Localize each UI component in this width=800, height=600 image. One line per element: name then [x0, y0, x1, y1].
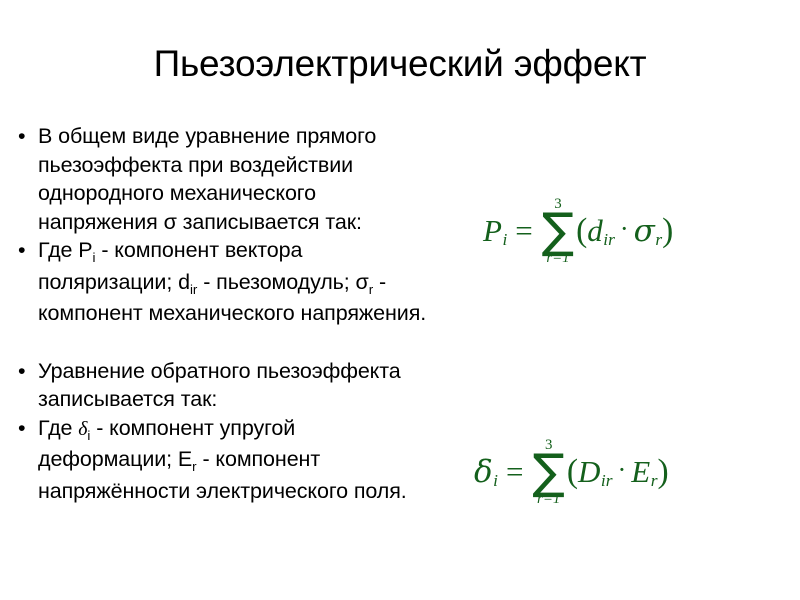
list-item: • Где δi - компонент упругой деформации;… [14, 414, 434, 506]
formula1-summation: 3 ∑ r=1 [542, 197, 574, 266]
sigma-summation-icon: ∑ [542, 211, 574, 252]
paragraph-spacer [14, 328, 434, 357]
formula1-term1-subscript: ir [603, 230, 615, 250]
formula1-equals-sign: = [515, 213, 532, 249]
formula2-term1-variable: D [578, 454, 600, 490]
formula2-lhs-variable: δ [474, 454, 493, 490]
math-variable: δ [78, 418, 87, 440]
subscript: i [93, 250, 96, 265]
bullet-marker-icon: • [18, 122, 25, 151]
formula1-lhs-variable: P [483, 213, 502, 249]
bullet-text-inverse-equation: Уравнение обратного пьезоэффекта записыв… [38, 359, 401, 412]
formula1-term2-subscript: r [655, 230, 662, 250]
formula1-sum-lower-limit: r=1 [546, 251, 569, 266]
formula2-summation: 3 ∑ r=1 [532, 438, 564, 507]
subscript: r [192, 459, 196, 474]
text-run: - пьезомодуль; σ [197, 270, 368, 294]
list-item: • Где Pi - компонент вектора поляризации… [14, 236, 434, 328]
bullet-text-general-equation: В общем виде уравнение прямого пьезоэффе… [38, 124, 376, 234]
slide-body-text: • В общем виде уравнение прямого пьезоэф… [14, 122, 434, 505]
formula2-close-paren: ) [658, 453, 669, 491]
formula2-multiplication-dot: · [618, 455, 627, 485]
direct-piezoelectric-effect-equation: Pi = 3 ∑ r=1 (dir · σr ) [483, 196, 673, 265]
sigma-summation-icon: ∑ [532, 452, 564, 493]
formula2-lhs-subscript: i [493, 471, 498, 491]
formula2-term2-subscript: r [651, 471, 658, 491]
list-item: • В общем виде уравнение прямого пьезоэф… [14, 122, 434, 236]
text-run: Где P [38, 238, 93, 262]
formula2-sum-lower-limit: r=1 [537, 492, 560, 507]
subscript: ir [190, 282, 197, 297]
text-run: Где [38, 416, 78, 440]
inverse-piezoelectric-effect-equation: δi = 3 ∑ r=1 (Dir · Er ) [474, 437, 669, 506]
bullet-marker-icon: • [18, 414, 25, 443]
formula1-lhs-subscript: i [502, 230, 507, 250]
bullet-marker-icon: • [18, 236, 25, 265]
text-run: В общем виде уравнение прямого пьезоэффе… [38, 124, 376, 234]
formula2-equals-sign: = [506, 454, 523, 490]
bullet-marker-icon: • [18, 357, 25, 386]
formula2-term2-variable: E [631, 454, 650, 490]
presentation-slide: Пьезоэлектрический эффект • В общем виде… [0, 0, 800, 600]
formula1-close-paren: ) [662, 212, 673, 250]
list-item: • Уравнение обратного пьезоэффекта запис… [14, 357, 434, 414]
bullet-text-inverse-definitions: Где δi - компонент упругой деформации; E… [38, 416, 407, 503]
formula1-open-paren: ( [576, 212, 587, 250]
page-title: Пьезоэлектрический эффект [0, 42, 800, 86]
formula2-open-paren: ( [567, 453, 578, 491]
formula1-term1-variable: d [587, 213, 603, 249]
formula1-multiplication-dot: · [620, 214, 629, 244]
subscript: i [87, 428, 90, 443]
bullet-text-direct-definitions: Где Pi - компонент вектора поляризации; … [38, 238, 426, 325]
subscript: r [369, 282, 373, 297]
formula2-term1-subscript: ir [601, 471, 613, 491]
formula1-term2-variable: σ [634, 213, 655, 249]
text-run: Уравнение обратного пьезоэффекта записыв… [38, 359, 401, 412]
